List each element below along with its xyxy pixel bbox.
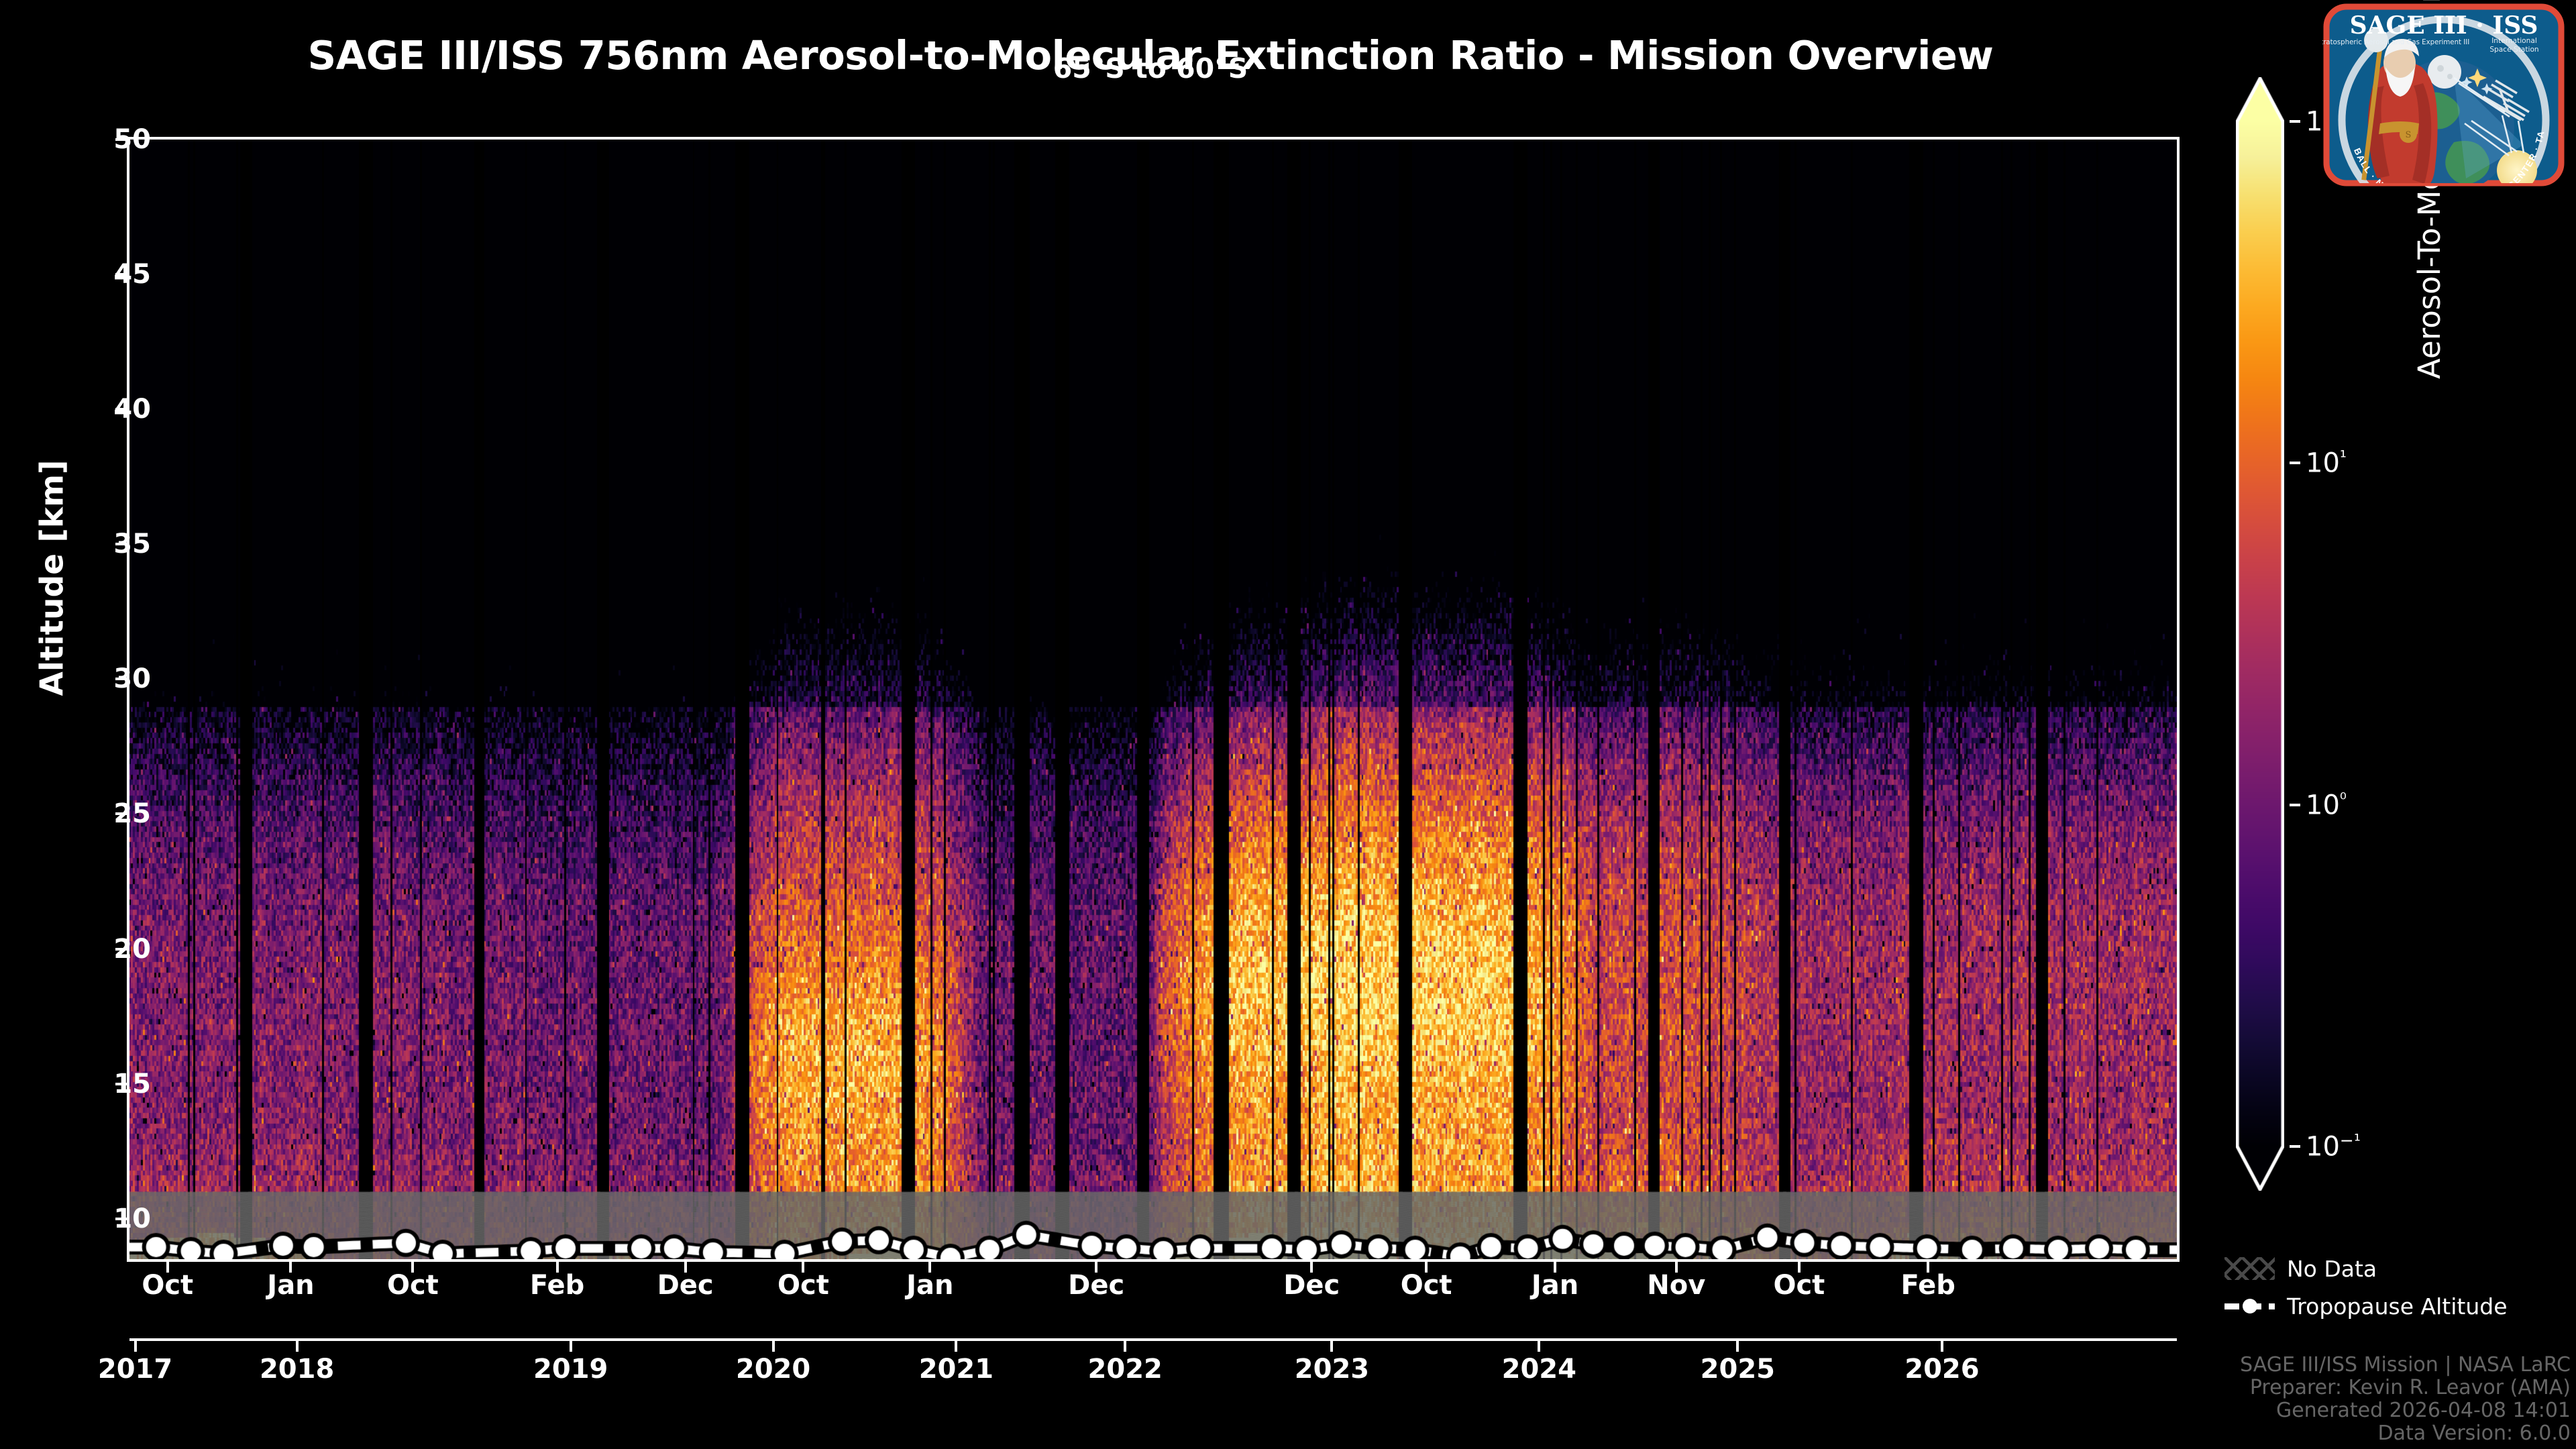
colorbar-tick-mark: [2290, 462, 2300, 464]
x-axis-month-label: Nov: [1647, 1270, 1705, 1301]
y-axis-label: Altitude [km]: [34, 75, 71, 1081]
x-axis-month-tick: [928, 1259, 931, 1273]
x-axis-year-label: 2024: [1502, 1354, 1576, 1385]
y-axis-tick-mark: [115, 408, 129, 411]
y-axis-tick-mark: [115, 812, 129, 815]
svg-text:S: S: [2406, 130, 2412, 140]
legend-label-no-data: No Data: [2287, 1256, 2377, 1282]
no-data-hatch-icon: [2224, 1257, 2275, 1280]
footer-line-generated: Generated 2026-04-08 14:01: [2240, 1399, 2571, 1422]
x-axis-month-tick: [411, 1259, 414, 1273]
y-axis-tick-mark: [115, 678, 129, 680]
y-axis-tick-mark: [115, 948, 129, 951]
colorbar-tick-mark: [2290, 804, 2300, 806]
x-axis-month-label: Oct: [387, 1270, 439, 1301]
heatmap-plot-area: [129, 140, 2177, 1259]
moon-icon: [2428, 55, 2461, 89]
footer-line-mission: SAGE III/ISS Mission | NASA LaRC: [2240, 1354, 2571, 1377]
logo-subtitle-right-1: International: [2491, 37, 2537, 45]
x-axis-month-label: Dec: [1068, 1270, 1124, 1301]
x-axis-year-label: 2025: [1701, 1354, 1775, 1385]
colorbar-tick-label: 10−¹: [2306, 1130, 2361, 1162]
colorbar-tick-label: 10¹: [2306, 447, 2347, 479]
x-axis-month-tick: [684, 1259, 687, 1273]
colorbar-tick-mark: [2290, 1145, 2300, 1148]
x-axis-year-label: 2018: [260, 1354, 334, 1385]
logo-subtitle-right-2: Space Station: [2489, 46, 2538, 54]
y-axis-tick-mark: [115, 543, 129, 545]
x-axis-month-tick: [1927, 1259, 1929, 1273]
footer-line-preparer: Preparer: Kevin R. Leavor (AMA): [2240, 1377, 2571, 1399]
sage-iii-iss-mission-patch-logo: S BALL · NASA LANGLEY RESEARCH CENTER · …: [2322, 3, 2565, 187]
y-axis-tick-mark: [115, 138, 129, 141]
heatmap-canvas: [129, 140, 2177, 1259]
legend-item-tropopause: Tropopause Altitude: [2224, 1289, 2573, 1323]
x-axis-month-label: Jan: [267, 1270, 314, 1301]
y-axis-tick-mark: [115, 1218, 129, 1220]
x-axis-month-tick: [289, 1259, 292, 1273]
x-axis-year-label: 2023: [1295, 1354, 1369, 1385]
x-axis-month-tick: [802, 1259, 804, 1273]
colorbar: 10−¹10⁰10¹10²: [2231, 77, 2432, 1191]
legend-item-no-data: No Data: [2224, 1252, 2573, 1285]
x-axis-month-label: Jan: [1532, 1270, 1578, 1301]
footer-line-version: Data Version: 6.0.0: [2240, 1422, 2571, 1445]
colorbar-gradient: [2236, 77, 2284, 1191]
x-axis-month-label: Feb: [1900, 1270, 1955, 1301]
x-axis-year-tick: [955, 1338, 957, 1352]
tropopause-line-icon: [2224, 1295, 2275, 1318]
x-axis-year-label: 2021: [919, 1354, 994, 1385]
x-axis-year-label: 2026: [1904, 1354, 1979, 1385]
x-axis-month-tick: [1798, 1259, 1801, 1273]
x-axis-month-label: Oct: [1773, 1270, 1825, 1301]
x-axis-year-label: 2020: [736, 1354, 810, 1385]
x-axis-year-tick: [1330, 1338, 1333, 1352]
legend: No Data Tropopause Altitude: [2224, 1252, 2573, 1327]
x-axis-year-tick: [134, 1338, 137, 1352]
x-axis-month-tick: [1425, 1259, 1428, 1273]
x-axis-year-label: 2019: [533, 1354, 608, 1385]
x-axis-year-tick: [570, 1338, 572, 1352]
x-axis-year-tick: [1124, 1338, 1126, 1352]
x-axis-month-tick: [556, 1259, 559, 1273]
y-axis-tick-mark: [115, 1083, 129, 1085]
x-axis-year-label: 2017: [98, 1354, 172, 1385]
x-axis-month-tick: [1310, 1259, 1313, 1273]
x-axis-month-tick: [1554, 1259, 1556, 1273]
x-axis-month-label: Oct: [777, 1270, 829, 1301]
legend-label-tropopause: Tropopause Altitude: [2287, 1293, 2508, 1320]
figure-root: SAGE III/ISS 756nm Aerosol-to-Molecular …: [0, 0, 2576, 1449]
footer-credits: SAGE III/ISS Mission | NASA LaRC Prepare…: [2240, 1354, 2571, 1445]
x-axis-month-tick: [1095, 1259, 1097, 1273]
colorbar-tick-label: 10⁰: [2306, 789, 2347, 820]
x-axis-month-label: Oct: [142, 1270, 193, 1301]
y-axis-tick-mark: [115, 273, 129, 276]
x-axis-month-tick: [166, 1259, 169, 1273]
colorbar-tick-mark: [2290, 120, 2300, 123]
year-axis-line: [129, 1338, 2177, 1341]
x-axis-month-label: Oct: [1401, 1270, 1452, 1301]
logo-subtitle-left: Stratospheric Aerosol and Gas Experiment…: [2322, 39, 2469, 46]
x-axis-year-tick: [1736, 1338, 1739, 1352]
x-axis-month-label: Jan: [906, 1270, 953, 1301]
x-axis-year-tick: [1538, 1338, 1540, 1352]
logo-main-text: SAGE III · ISS: [2350, 11, 2538, 40]
x-axis-year-tick: [772, 1338, 775, 1352]
x-axis-month-label: Feb: [530, 1270, 584, 1301]
x-axis-year-tick: [1941, 1338, 1943, 1352]
x-axis-month-label: Dec: [1283, 1270, 1340, 1301]
x-axis-month-tick: [1675, 1259, 1678, 1273]
x-axis-year-label: 2022: [1088, 1354, 1163, 1385]
page-subtitle: 65°S to 60°S: [0, 52, 2301, 85]
x-axis-year-tick: [296, 1338, 299, 1352]
x-axis-month-label: Dec: [657, 1270, 714, 1301]
